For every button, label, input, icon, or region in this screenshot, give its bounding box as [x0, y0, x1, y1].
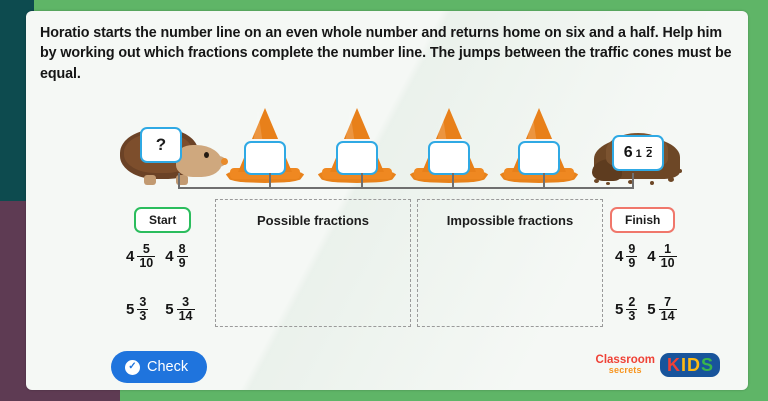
fraction-card-left-3[interactable]: 5 3 3 — [126, 296, 155, 323]
classroom-secrets-kids-logo: Classroom secrets K I D S — [596, 353, 720, 377]
number-line-tick — [361, 173, 363, 189]
fraction-denominator: 9 — [626, 256, 637, 270]
kids-letter-d: D — [687, 356, 700, 374]
burrow-numerator: 1 — [636, 148, 642, 160]
start-value-box[interactable]: ? — [140, 127, 182, 163]
fraction-vulgar: 2 3 — [626, 296, 637, 323]
fraction-card-right-2[interactable]: 4 1 10 — [647, 243, 676, 270]
finish-value-box: 6 1 2 — [612, 135, 664, 171]
cone-answer-box-2[interactable] — [336, 141, 378, 175]
classroom-secrets-wordmark: Classroom secrets — [596, 355, 655, 376]
fraction-card-right-3[interactable]: 5 2 3 — [615, 296, 637, 323]
fraction-denominator: 3 — [137, 309, 148, 323]
traffic-cone-2 — [314, 105, 400, 185]
dropzone-possible-label: Possible fractions — [216, 213, 410, 228]
number-line — [178, 187, 634, 189]
fraction-numerator: 5 — [141, 243, 152, 256]
cone-answer-box-3[interactable] — [428, 141, 470, 175]
fraction-denominator: 3 — [626, 309, 637, 323]
fraction-whole: 4 — [126, 248, 134, 265]
dirt-crumb — [678, 169, 682, 173]
kids-badge: K I D S — [660, 353, 720, 377]
dropzone-possible-fractions[interactable]: Possible fractions — [215, 199, 411, 327]
check-button-label: Check — [147, 359, 188, 375]
dirt-burrow: 6 1 2 — [590, 119, 686, 185]
fraction-vulgar: 3 14 — [177, 296, 195, 323]
dirt-crumb — [650, 181, 654, 185]
fraction-denominator: 10 — [659, 256, 677, 270]
burrow-fraction: 1 2 — [636, 144, 653, 162]
number-line-tick — [178, 173, 180, 189]
hedgehog-leg-rear — [144, 175, 156, 185]
fraction-vulgar: 1 10 — [659, 243, 677, 270]
dropzone-impossible-label: Impossible fractions — [418, 213, 602, 228]
number-line-tick — [269, 173, 271, 189]
number-line-stage: ? — [26, 81, 748, 199]
kids-letter-i: I — [681, 356, 686, 374]
hedgehog-character: ? — [120, 123, 230, 185]
fraction-numerator: 8 — [177, 243, 188, 256]
fraction-numerator: 9 — [626, 243, 637, 256]
hedgehog-eye — [204, 152, 209, 158]
fraction-numerator: 2 — [626, 296, 637, 309]
fraction-bank-left: 4 5 10 4 8 9 5 3 3 5 3 14 — [126, 243, 195, 324]
question-prompt: Horatio starts the number line on an eve… — [40, 23, 734, 84]
fraction-vulgar: 7 14 — [659, 296, 677, 323]
fraction-numerator: 3 — [137, 296, 148, 309]
fraction-card-left-1[interactable]: 4 5 10 — [126, 243, 155, 270]
cone-answer-box-4[interactable] — [518, 141, 560, 175]
fraction-whole: 5 — [126, 301, 134, 318]
fraction-denominator: 14 — [659, 309, 677, 323]
burrow-whole-number: 6 — [624, 144, 633, 162]
dirt-crumb — [606, 182, 610, 185]
fraction-whole: 5 — [165, 301, 173, 318]
activity-card: Horatio starts the number line on an eve… — [26, 11, 748, 390]
start-tag: Start — [134, 207, 191, 233]
fraction-whole: 5 — [615, 301, 623, 318]
fraction-vulgar: 3 3 — [137, 296, 148, 323]
fraction-vulgar: 9 9 — [626, 243, 637, 270]
traffic-cone-3 — [406, 105, 492, 185]
dropzone-impossible-fractions[interactable]: Impossible fractions — [417, 199, 603, 327]
fraction-denominator: 14 — [177, 309, 195, 323]
traffic-cone-1 — [222, 105, 308, 185]
cone-answer-box-1[interactable] — [244, 141, 286, 175]
fraction-card-left-2[interactable]: 4 8 9 — [165, 243, 194, 270]
fraction-card-left-4[interactable]: 5 3 14 — [165, 296, 194, 323]
kids-letter-k: K — [667, 356, 680, 374]
fraction-vulgar: 5 10 — [137, 243, 155, 270]
fraction-card-right-4[interactable]: 5 7 14 — [647, 296, 676, 323]
finish-tag: Finish — [610, 207, 675, 233]
fraction-numerator: 7 — [662, 296, 673, 309]
fraction-whole: 4 — [647, 248, 655, 265]
number-line-tick — [632, 173, 634, 189]
check-circle-icon: ✓ — [125, 360, 140, 375]
fraction-whole: 4 — [615, 248, 623, 265]
traffic-cone-4 — [496, 105, 582, 185]
logo-line-secrets: secrets — [609, 366, 642, 375]
dirt-crumb — [594, 179, 599, 183]
fraction-card-right-1[interactable]: 4 9 9 — [615, 243, 637, 270]
dirt-crumb — [668, 177, 674, 182]
fraction-numerator: 3 — [180, 296, 191, 309]
fraction-bank-right: 4 9 9 4 1 10 5 2 3 5 7 14 — [615, 243, 677, 324]
check-button[interactable]: ✓ Check — [111, 351, 207, 383]
number-line-tick — [543, 173, 545, 189]
fraction-denominator: 9 — [177, 256, 188, 270]
fraction-whole: 5 — [647, 301, 655, 318]
kids-letter-s: S — [701, 356, 713, 374]
fraction-numerator: 1 — [662, 243, 673, 256]
fraction-vulgar: 8 9 — [177, 243, 188, 270]
number-line-tick — [452, 173, 454, 189]
fraction-whole: 4 — [165, 248, 173, 265]
burrow-denominator: 2 — [646, 147, 652, 160]
fraction-denominator: 10 — [137, 256, 155, 270]
